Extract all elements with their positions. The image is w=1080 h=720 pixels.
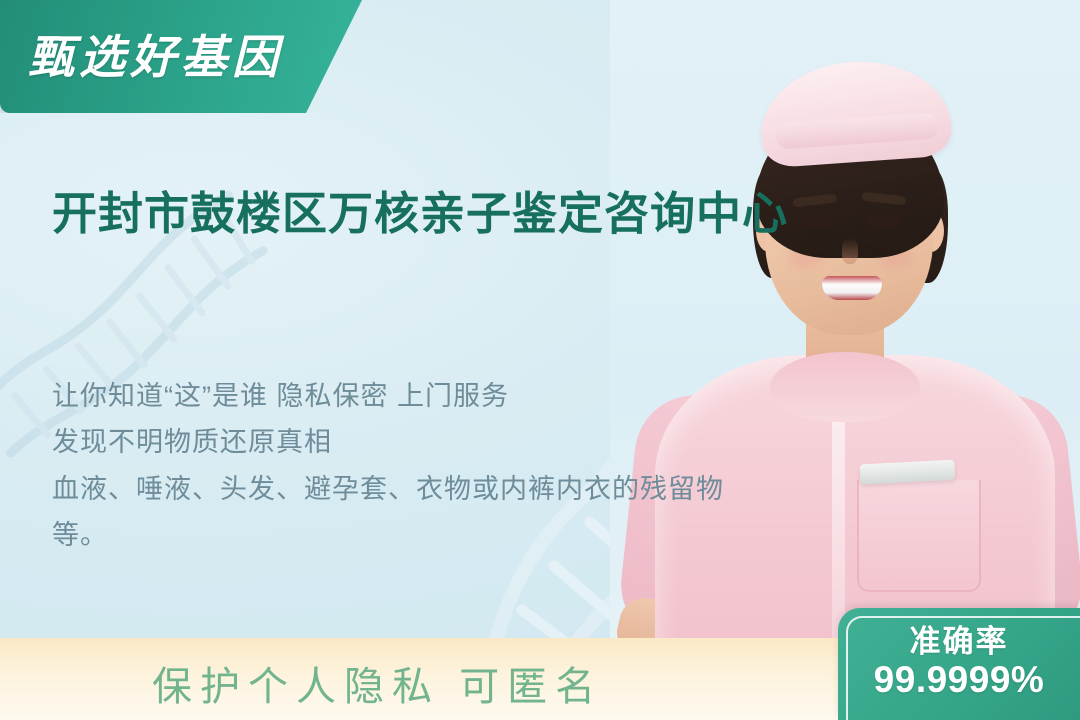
accuracy-label: 准确率 [910,626,1009,659]
nurse-mouth [822,276,882,300]
accuracy-badge: 准确率 99.9999% [838,608,1080,720]
uniform-collar [770,352,920,422]
description-line-1: 让你知道“这”是谁 隐私保密 上门服务 [52,373,752,419]
footer-slogan: 保护个人隐私 可匿名 [152,654,603,712]
brand-ribbon: 甄选好基因 [0,0,362,113]
description-text: 让你知道“这”是谁 隐私保密 上门服务 发现不明物质还原真相 血液、唾液、头发、… [52,373,752,559]
uniform-pocket [857,480,981,592]
accuracy-value: 99.9999% [874,659,1045,702]
description-line-2: 发现不明物质还原真相 [52,419,752,465]
brand-name: 甄选好基因 [28,21,283,87]
nurse-eye-right [866,212,902,227]
banner-canvas: 甄选好基因 开封市鼓楼区万核亲子鉴定咨询中心 让你知道“这”是谁 隐私保密 上门… [0,0,1080,720]
description-line-3: 血液、唾液、头发、避孕套、衣物或内裤内衣的残留物等。 [52,466,752,559]
page-title: 开封市鼓楼区万核亲子鉴定咨询中心 [52,185,852,243]
